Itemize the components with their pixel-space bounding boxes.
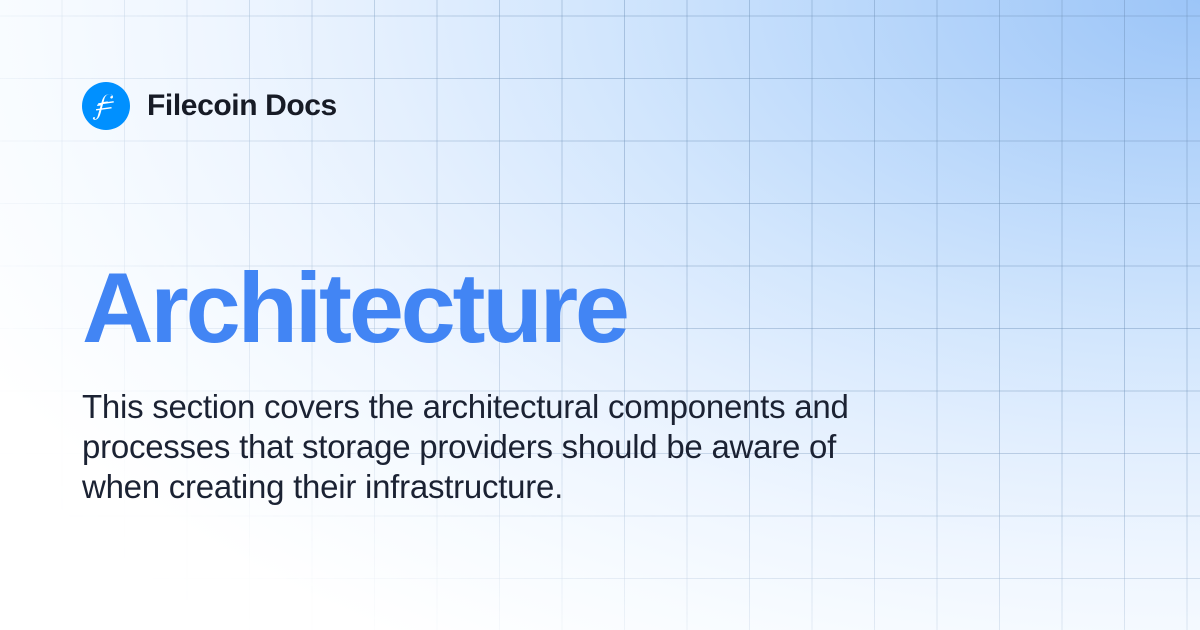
brand-name-label: Filecoin Docs	[147, 91, 337, 121]
filecoin-logo-icon	[82, 82, 130, 130]
og-card: Filecoin Docs Architecture This section …	[0, 0, 1200, 630]
page-description: This section covers the architectural co…	[82, 387, 852, 507]
page-title: Architecture	[82, 258, 627, 359]
brand-lockup: Filecoin Docs	[82, 82, 337, 130]
card-content: Filecoin Docs Architecture This section …	[0, 0, 1200, 630]
